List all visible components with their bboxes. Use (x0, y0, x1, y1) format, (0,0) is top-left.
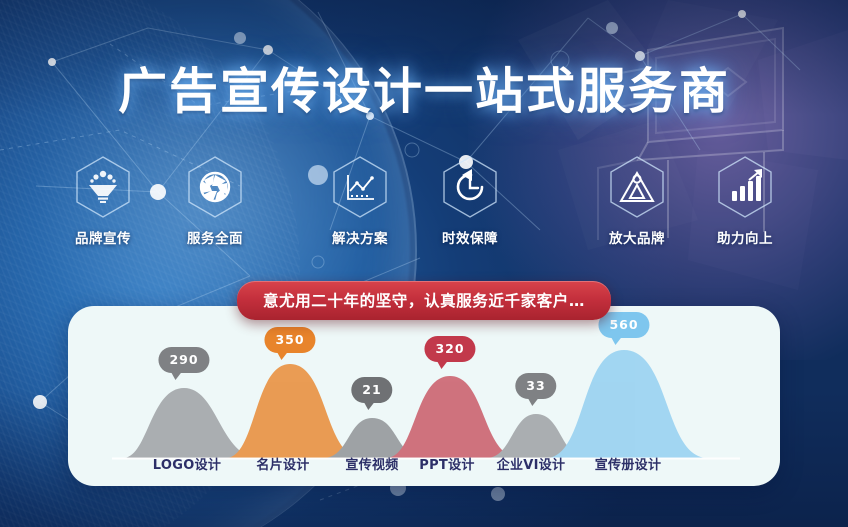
aperture-hexagon-icon (186, 155, 244, 219)
curve-brochure (546, 350, 708, 458)
curve-ppt (386, 376, 520, 458)
value-bubble: 290 (158, 347, 209, 373)
line-chart-hexagon-icon (331, 155, 389, 219)
feature-item-full-service[interactable]: 服务全面 (167, 155, 263, 247)
feature-item-solution[interactable]: 解决方案 (312, 155, 408, 247)
category-label: PPT设计 (419, 454, 474, 473)
category-label: 名片设计 (256, 454, 309, 473)
feature-label: 时效保障 (422, 227, 518, 247)
category-label: LOGO设计 (153, 454, 221, 473)
curve-mingpian (226, 364, 362, 458)
feature-label: 放大品牌 (589, 227, 685, 247)
feature-label: 服务全面 (167, 227, 263, 247)
bar-chart-up-hexagon-icon (716, 155, 774, 219)
feature-label: 解决方案 (312, 227, 408, 247)
value-bubble: 33 (515, 373, 556, 399)
value-bubble: 350 (264, 327, 315, 353)
curve-logo (123, 388, 260, 458)
value-bubble: 560 (598, 312, 649, 338)
page-title: 广告宣传设计一站式服务商 (0, 52, 848, 123)
category-label: 宣传册设计 (595, 454, 662, 473)
feature-label: 助力向上 (697, 227, 793, 247)
category-label-row: LOGO设计 名片设计 宣传视频 PPT设计 企业VI设计 宣传册设计 (68, 454, 780, 472)
feature-item-timeliness[interactable]: 时效保障 (422, 155, 518, 247)
tagline-banner: 意尤用二十年的坚守，认真服务近千家客户… (237, 281, 611, 320)
triangle-hexagon-icon (608, 155, 666, 219)
category-label: 企业VI设计 (497, 454, 566, 473)
megaphone-hexagon-icon (74, 155, 132, 219)
feature-item-amplify-brand[interactable]: 放大品牌 (589, 155, 685, 247)
feature-item-boost-upward[interactable]: 助力向上 (697, 155, 793, 247)
category-label: 宣传视频 (345, 454, 398, 473)
statistics-card: 290 350 21 320 33 560 LOGO设计 名片设计 宣传视频 P… (68, 306, 780, 486)
value-bubble: 21 (351, 377, 392, 403)
clock-arrow-hexagon-icon (441, 155, 499, 219)
poster-canvas: 广告宣传设计一站式服务商 品牌宣传 (0, 0, 848, 527)
value-bubble: 320 (424, 336, 475, 362)
feature-label: 品牌宣传 (55, 227, 151, 247)
feature-item-brand-promotion[interactable]: 品牌宣传 (55, 155, 151, 247)
feature-row: 品牌宣传 服务全面 (0, 155, 848, 250)
